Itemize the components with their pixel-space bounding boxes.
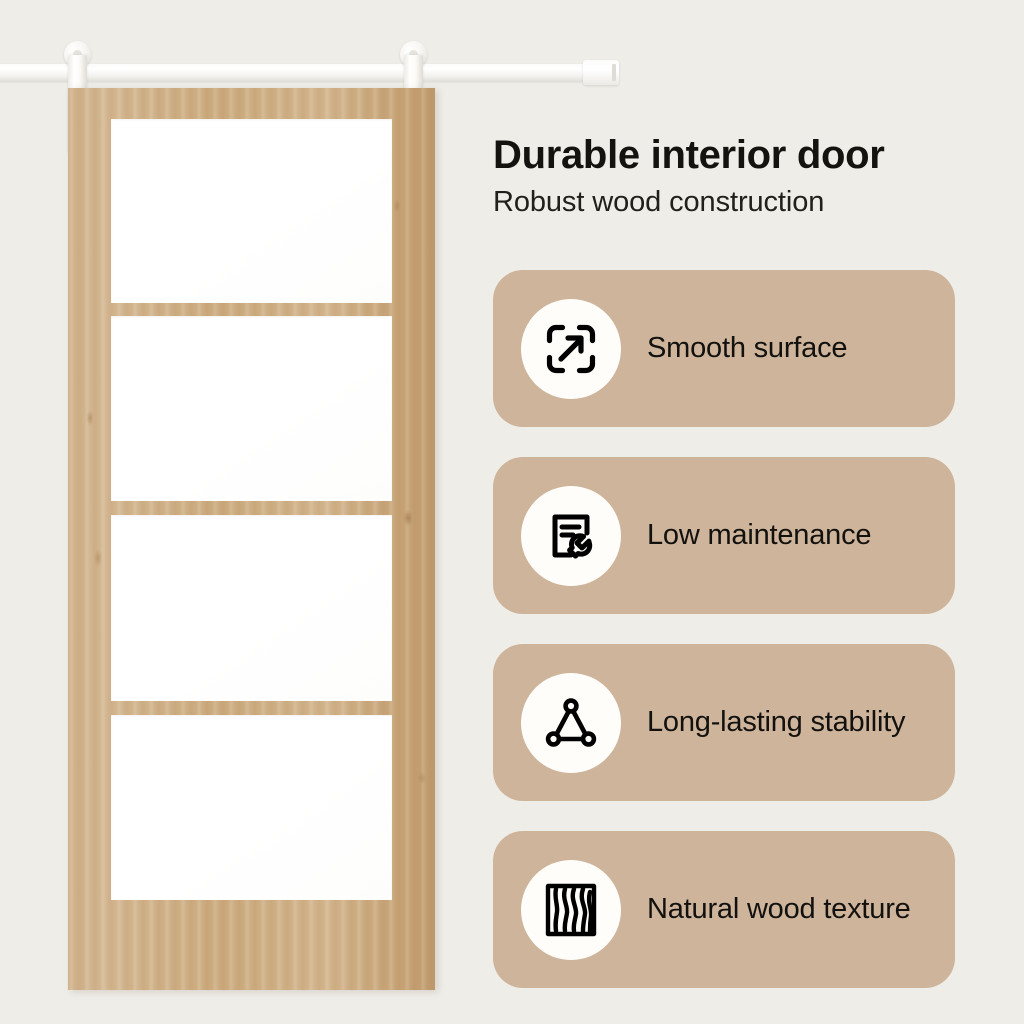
glass-panel — [111, 715, 392, 900]
stability-triangle-icon — [543, 695, 599, 751]
page-title: Durable interior door — [493, 133, 993, 177]
feature-label: Low maintenance — [647, 519, 871, 552]
icon-badge — [521, 486, 621, 586]
product-photo — [0, 0, 470, 1024]
door-slab — [68, 88, 435, 990]
feature-card-natural-wood-texture: Natural wood texture — [493, 831, 955, 988]
feature-card-smooth-surface: Smooth surface — [493, 270, 955, 427]
icon-badge — [521, 860, 621, 960]
feature-label: Long-lasting stability — [647, 706, 905, 739]
smooth-surface-icon — [543, 321, 599, 377]
icon-badge — [521, 299, 621, 399]
wood-grain-icon — [544, 882, 598, 938]
glass-panel — [111, 316, 392, 501]
low-maintenance-wrench-icon — [543, 508, 599, 564]
info-panel: Durable interior door Robust wood constr… — [490, 0, 1024, 1024]
feature-card-long-lasting-stability: Long-lasting stability — [493, 644, 955, 801]
glass-panel — [111, 119, 392, 303]
feature-list: Smooth surface Low main — [493, 270, 958, 988]
feature-card-low-maintenance: Low maintenance — [493, 457, 955, 614]
feature-label: Smooth surface — [647, 332, 847, 365]
glass-panel — [111, 515, 392, 701]
feature-label: Natural wood texture — [647, 893, 911, 926]
icon-badge — [521, 673, 621, 773]
page-subtitle: Robust wood construction — [493, 186, 993, 219]
